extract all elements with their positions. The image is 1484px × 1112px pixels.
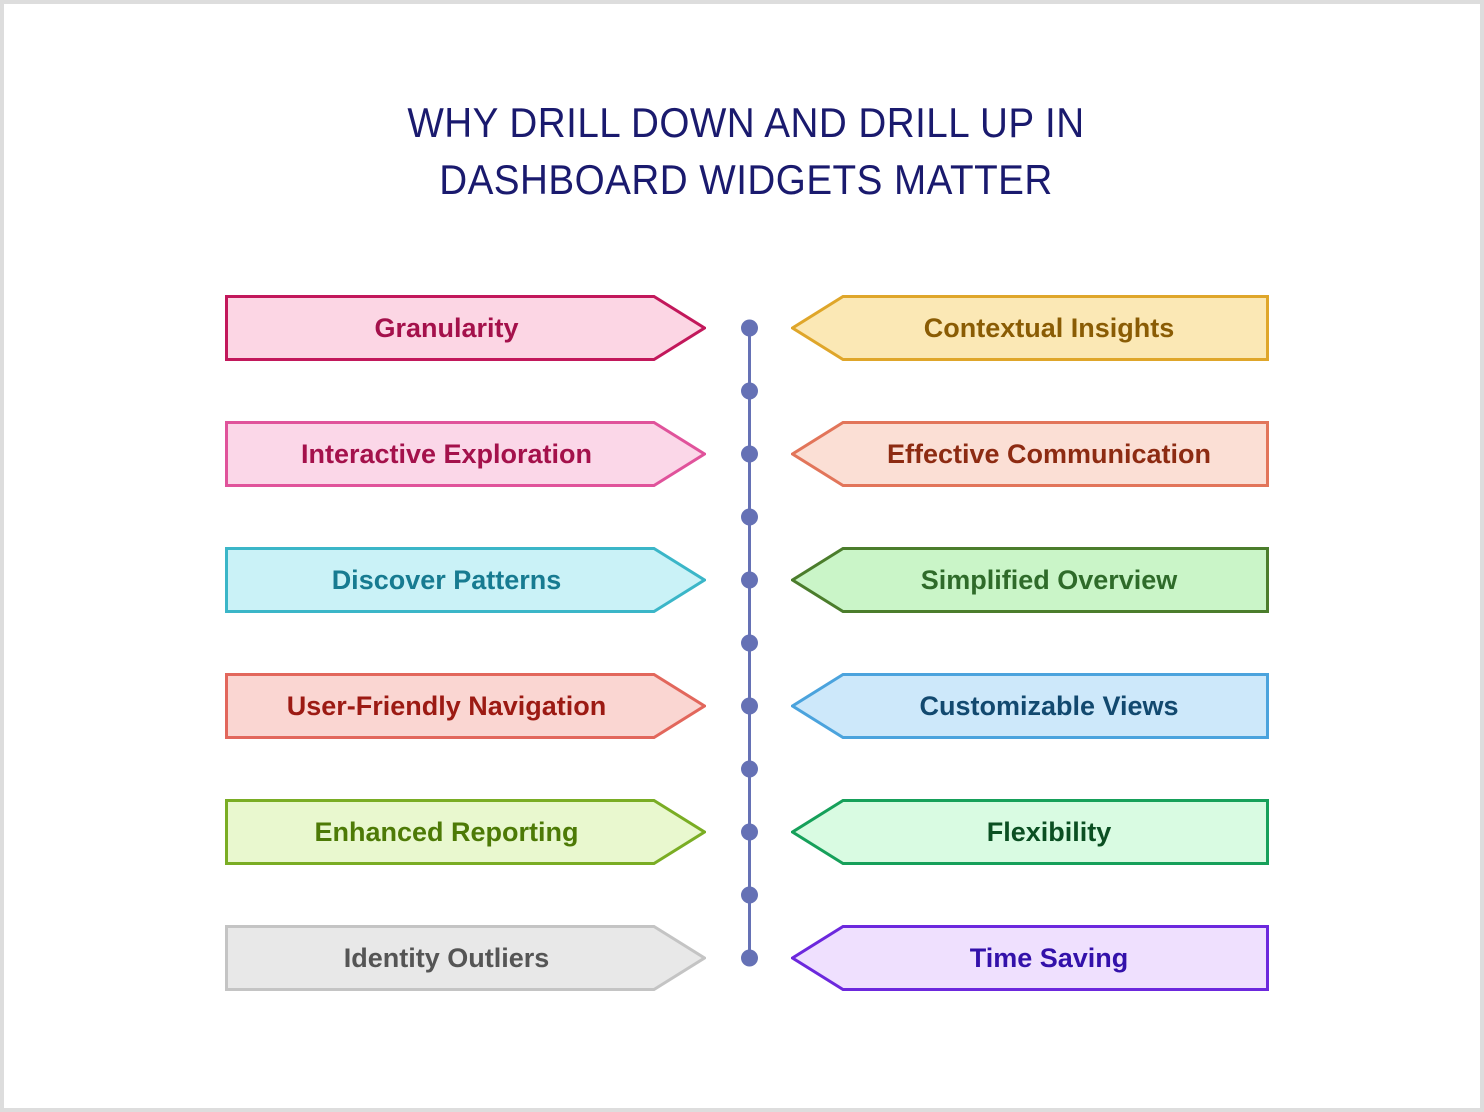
arrow-label: Granularity (239, 295, 654, 361)
arrow-row: User-Friendly NavigationCustomizable Vie… (4, 673, 1484, 739)
arrow-row: Interactive ExplorationEffective Communi… (4, 421, 1484, 487)
arrow-label: Customizable Views (843, 673, 1255, 739)
arrow-item[interactable]: Identity Outliers (225, 925, 706, 991)
arrow-item[interactable]: Interactive Exploration (225, 421, 706, 487)
arrow-label: Time Saving (843, 925, 1255, 991)
timeline-dot (741, 761, 758, 778)
arrow-label: Interactive Exploration (239, 421, 654, 487)
arrow-item[interactable]: Granularity (225, 295, 706, 361)
arrow-label: Identity Outliers (239, 925, 654, 991)
arrow-label: Effective Communication (843, 421, 1255, 487)
arrow-label: Simplified Overview (843, 547, 1255, 613)
timeline-dot (741, 383, 758, 400)
timeline-dot (741, 887, 758, 904)
arrow-row: Discover PatternsSimplified Overview (4, 547, 1484, 613)
arrow-item[interactable]: Simplified Overview (791, 547, 1269, 613)
arrow-row: GranularityContextual Insights (4, 295, 1484, 361)
arrow-label: Discover Patterns (239, 547, 654, 613)
arrow-label: Enhanced Reporting (239, 799, 654, 865)
arrow-item[interactable]: Contextual Insights (791, 295, 1269, 361)
timeline-dot (741, 635, 758, 652)
timeline-dot (741, 509, 758, 526)
arrow-item[interactable]: Discover Patterns (225, 547, 706, 613)
arrow-label: Contextual Insights (843, 295, 1255, 361)
arrow-item[interactable]: Enhanced Reporting (225, 799, 706, 865)
arrow-label: Flexibility (843, 799, 1255, 865)
arrow-row: Identity OutliersTime Saving (4, 925, 1484, 991)
arrow-label: User-Friendly Navigation (239, 673, 654, 739)
infographic-page: WHY DRILL DOWN AND DRILL UP IN DASHBOARD… (0, 0, 1484, 1112)
arrow-item[interactable]: Flexibility (791, 799, 1269, 865)
arrow-item[interactable]: User-Friendly Navigation (225, 673, 706, 739)
arrow-item[interactable]: Time Saving (791, 925, 1269, 991)
arrow-row: Enhanced ReportingFlexibility (4, 799, 1484, 865)
page-title: WHY DRILL DOWN AND DRILL UP IN DASHBOARD… (286, 94, 1206, 208)
arrow-item[interactable]: Effective Communication (791, 421, 1269, 487)
arrow-item[interactable]: Customizable Views (791, 673, 1269, 739)
